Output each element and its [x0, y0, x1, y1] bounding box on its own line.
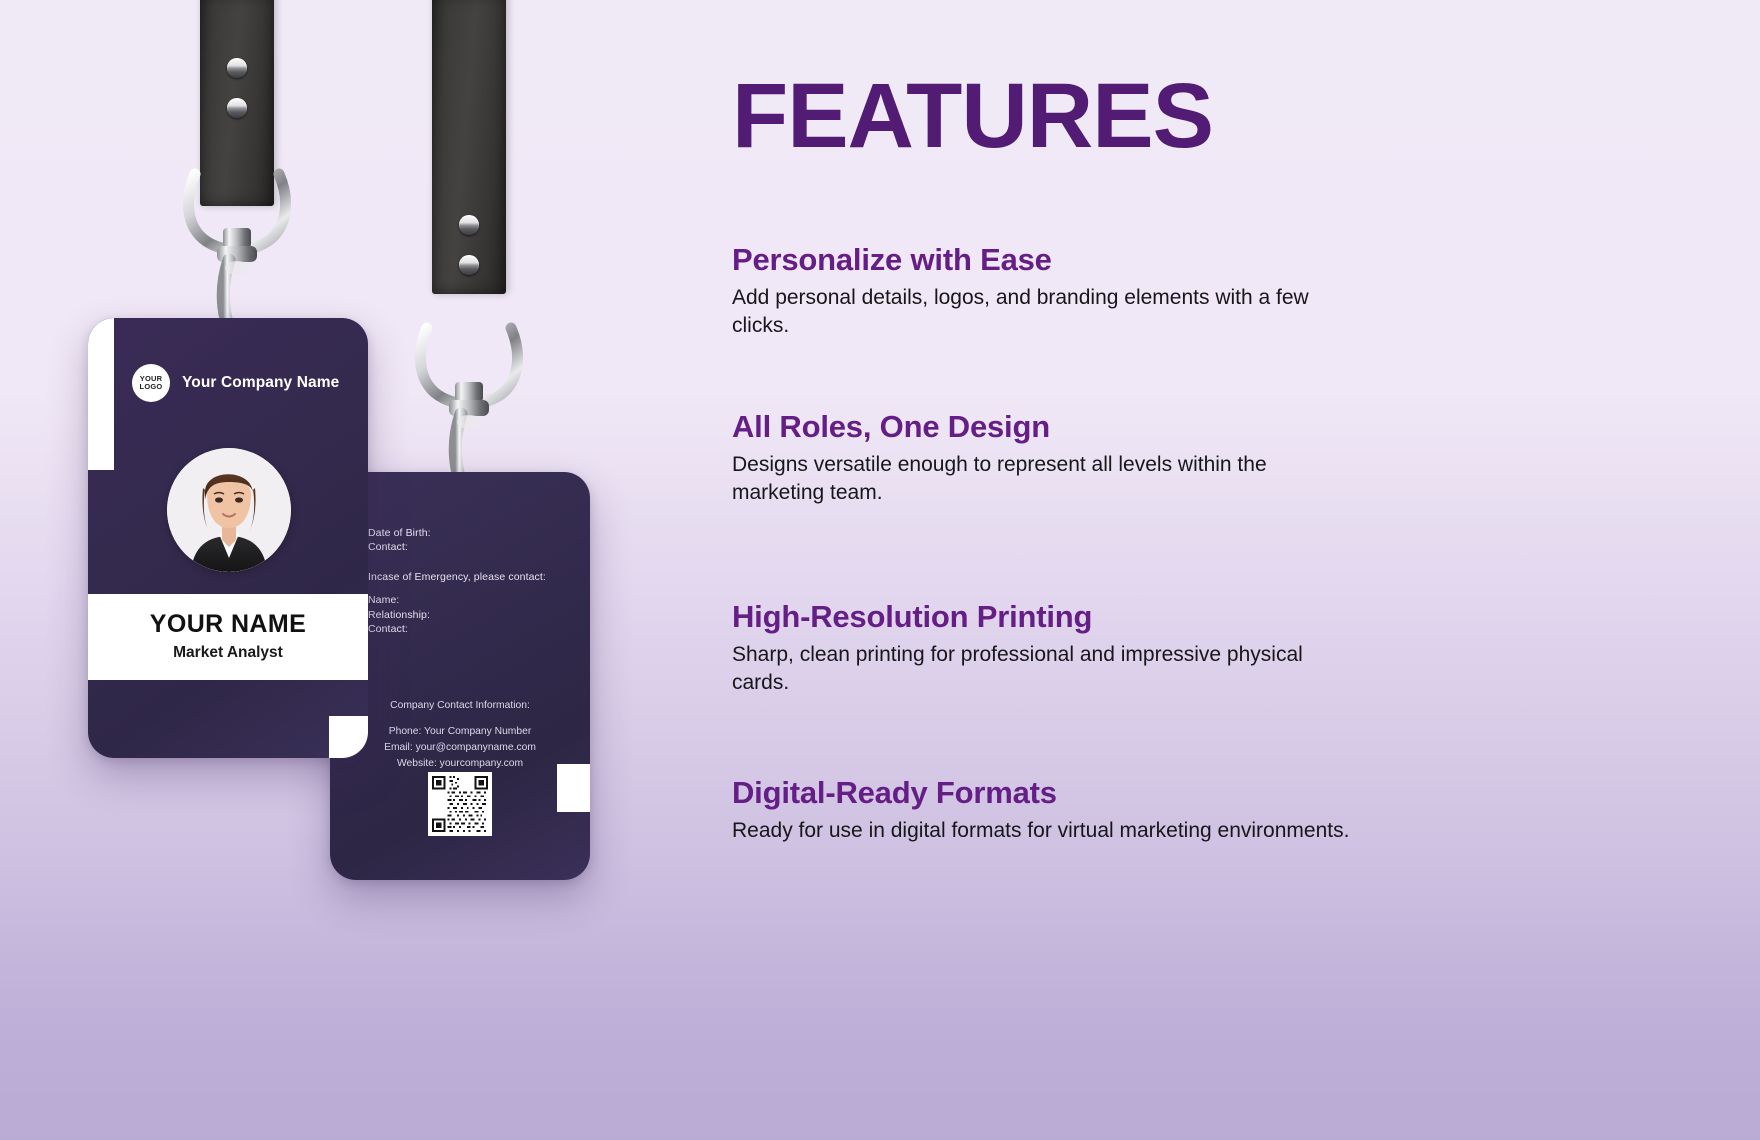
- feature-heading: Personalize with Ease: [732, 243, 1352, 278]
- card-notch: [329, 716, 368, 758]
- company-phone: Phone: Your Company Number: [330, 724, 590, 740]
- portrait-photo-icon: [167, 448, 291, 572]
- rivet-icon: [227, 58, 247, 78]
- feature-body: Designs versatile enough to represent al…: [732, 451, 1352, 507]
- rivet-icon: [459, 255, 479, 275]
- feature-body: Sharp, clean printing for professional a…: [732, 641, 1352, 697]
- id-card-front[interactable]: YOUR LOGO Your Company Name: [88, 318, 368, 758]
- id-badge-mockup-area: Date of Birth: Contact: Incase of Emerge…: [0, 0, 700, 1140]
- feature-heading: All Roles, One Design: [732, 410, 1352, 445]
- leather-strap-icon: [432, 0, 506, 294]
- company-contact-heading: Company Contact Information:: [330, 698, 590, 714]
- emergency-name-label: Name:: [368, 593, 546, 607]
- company-logo-icon: YOUR LOGO: [132, 364, 170, 402]
- company-email: Email: your@companyname.com: [330, 740, 590, 756]
- id-card-back[interactable]: Date of Birth: Contact: Incase of Emerge…: [330, 472, 590, 880]
- employee-role: Market Analyst: [88, 644, 368, 662]
- feature-heading: Digital-Ready Formats: [732, 776, 1352, 811]
- birth-contact-fields: Date of Birth: Contact:: [368, 526, 431, 555]
- employee-name: YOUR NAME: [88, 610, 368, 639]
- rivet-icon: [459, 215, 479, 235]
- name-band: YOUR NAME Market Analyst: [88, 594, 368, 680]
- feature-body: Ready for use in digital formats for vir…: [732, 817, 1352, 845]
- feature-item-2: High-Resolution Printing Sharp, clean pr…: [732, 600, 1352, 697]
- rivet-icon: [227, 98, 247, 118]
- emergency-contact-label: Contact:: [368, 622, 546, 636]
- emergency-relationship-label: Relationship:: [368, 608, 546, 622]
- feature-item-1: All Roles, One Design Designs versatile …: [732, 410, 1352, 507]
- company-name: Your Company Name: [182, 374, 339, 392]
- feature-item-0: Personalize with Ease Add personal detai…: [732, 243, 1352, 340]
- qr-code[interactable]: [428, 772, 492, 836]
- emergency-contact-fields: Incase of Emergency, please contact: Nam…: [368, 570, 546, 637]
- feature-heading: High-Resolution Printing: [732, 600, 1352, 635]
- logo-line-2: LOGO: [140, 383, 163, 391]
- company-website: Website: yourcompany.com: [330, 756, 590, 772]
- avatar: [167, 448, 291, 572]
- card-side-accent: [88, 318, 114, 470]
- page-title: FEATURES: [732, 70, 1213, 162]
- features-panel: FEATURES Personalize with Ease Add perso…: [732, 0, 1732, 1140]
- card-logo-row: YOUR LOGO Your Company Name: [132, 364, 339, 402]
- emergency-heading: Incase of Emergency, please contact:: [368, 570, 546, 584]
- poster-canvas: Date of Birth: Contact: Incase of Emerge…: [0, 0, 1760, 1140]
- contact-label: Contact:: [368, 540, 431, 554]
- feature-body: Add personal details, logos, and brandin…: [732, 284, 1352, 340]
- feature-item-3: Digital-Ready Formats Ready for use in d…: [732, 776, 1352, 845]
- date-of-birth-label: Date of Birth:: [368, 526, 431, 540]
